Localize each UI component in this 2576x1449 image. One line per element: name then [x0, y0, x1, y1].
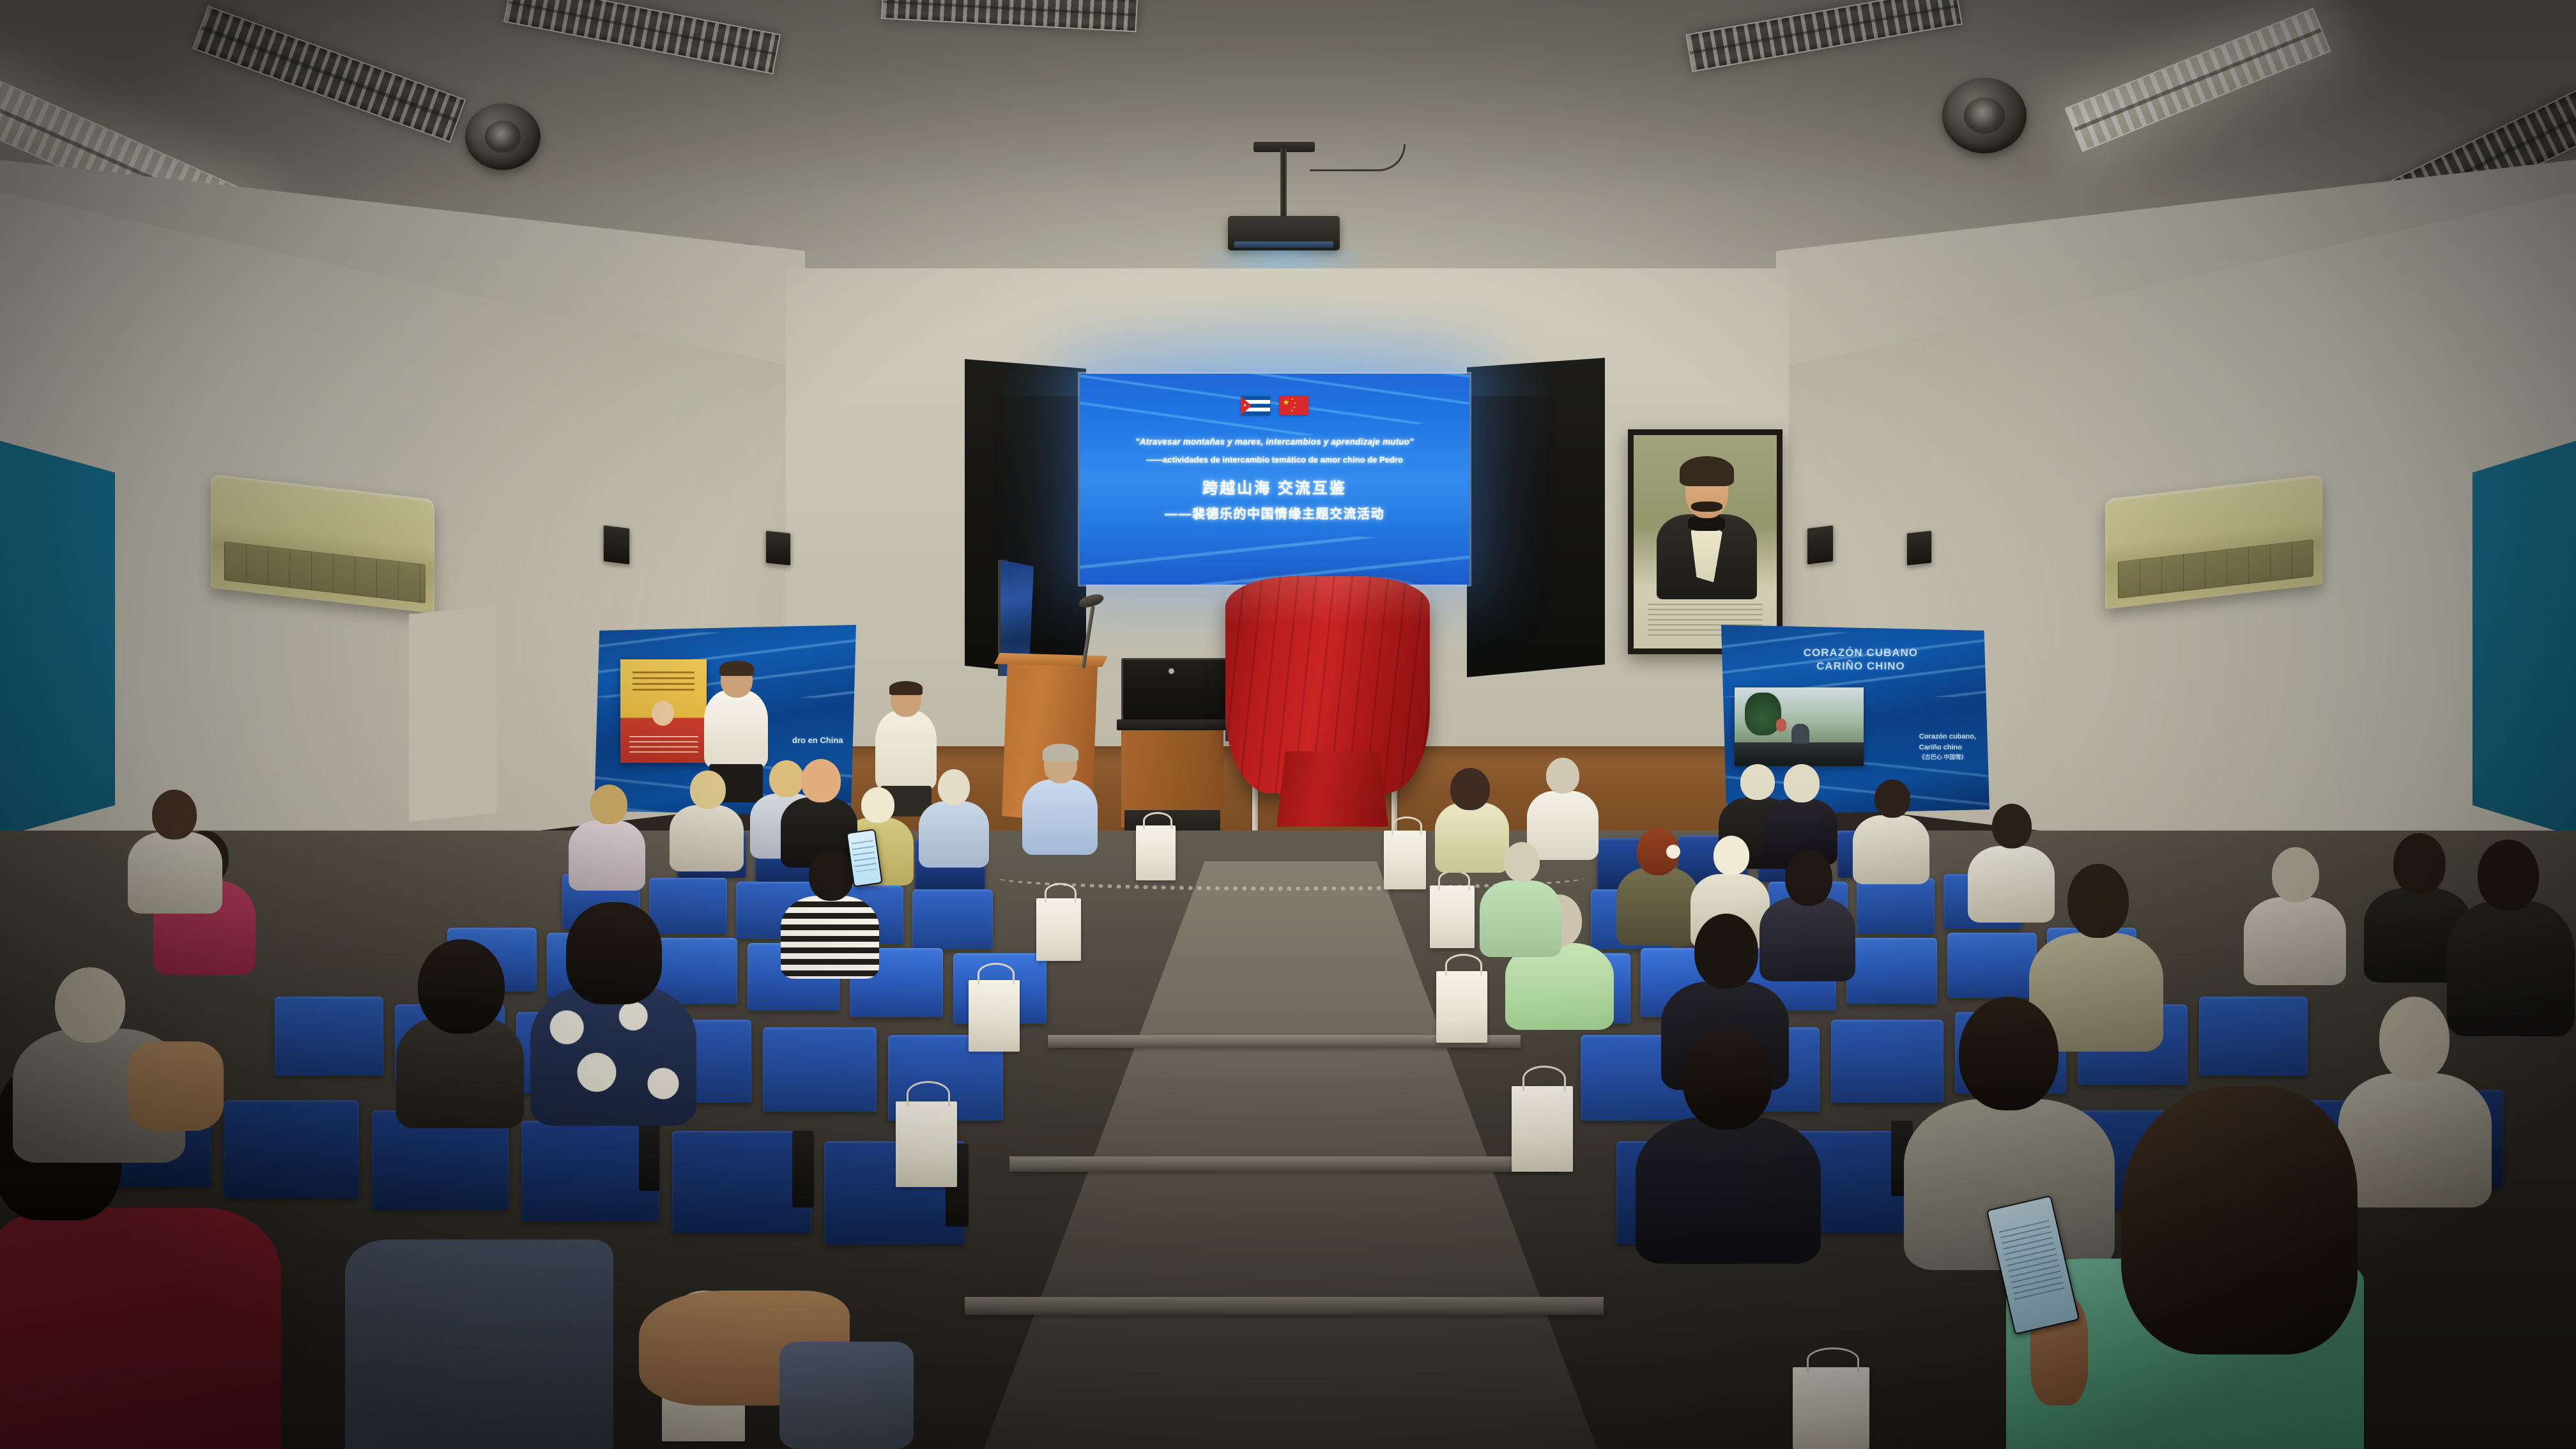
- right-banner-caption-line3: 《古巴心 中国情》: [1919, 753, 1976, 762]
- gift-tote-bag[interactable]: [1036, 898, 1081, 961]
- attendee-foreground-arm: [639, 1265, 914, 1449]
- ceiling-dome-speaker: [1942, 78, 2027, 153]
- auditorium-photo: "Atravesar montañas y mares, intercambio…: [0, 0, 2576, 1449]
- presentation-slide: "Atravesar montañas y mares, intercambio…: [1080, 374, 1469, 585]
- projector-cable: [1310, 144, 1406, 171]
- attendee-right-far-2: [1853, 779, 1929, 880]
- china-flag: [1279, 396, 1308, 415]
- projector-drop-pole: [1280, 148, 1287, 220]
- slide-spanish-subtitle: ——actividades de intercambio temático de…: [1095, 455, 1453, 465]
- phone-screen-small[interactable]: [847, 830, 881, 885]
- gift-tote-bag[interactable]: [1512, 1086, 1573, 1172]
- jose-marti-portrait: [1628, 429, 1782, 654]
- book-cover-image: [620, 659, 707, 763]
- auditorium-seat[interactable]: [275, 997, 383, 1076]
- banner-photo: [1735, 687, 1864, 765]
- person-with-phone-left: [128, 984, 256, 1131]
- auditorium-seat[interactable]: [672, 1131, 811, 1233]
- ceiling-dome-speaker: [465, 103, 540, 170]
- left-accent-wall-panel: [0, 441, 115, 837]
- attendee-right-far-1: [1763, 764, 1837, 861]
- attendee-left-orange-head: [781, 759, 857, 864]
- auditorium-seat[interactable]: [1857, 878, 1935, 934]
- attendee-left-far-3: [569, 785, 645, 887]
- slide-chinese-title: 跨越山海 交流互鉴: [1095, 475, 1453, 498]
- right-banner-caption: Corazón cubano, Cariño chino 《古巴心 中国情》: [1919, 732, 1976, 762]
- slide-chinese-subtitle: ——裴德乐的中国情缘主题交流活动: [1095, 503, 1453, 522]
- wall-speaker: [603, 525, 630, 565]
- auditorium-seat[interactable]: [1846, 938, 1937, 1004]
- attendee-left-far-2: [670, 770, 744, 868]
- right-banner-title-line1: CORAZÓN CUBANO: [1743, 646, 1979, 659]
- right-banner-caption-line2: Cariño chino: [1919, 742, 1976, 753]
- laptop-keyboard-base: [1117, 719, 1236, 730]
- stage-right-curtain: [1467, 358, 1605, 677]
- unveiling-base-drape: [1276, 751, 1388, 827]
- auditorium-seat[interactable]: [1947, 933, 2037, 998]
- aisle-step: [1009, 1156, 1559, 1172]
- gift-tote-bag[interactable]: [969, 980, 1020, 1052]
- right-banner-title-line2: CARIÑO CHINO: [1743, 659, 1979, 673]
- attendee-right-navy-jacket: [1636, 1029, 1821, 1259]
- gift-tote-bag[interactable]: [1436, 971, 1487, 1043]
- portrait-canvas: [1634, 435, 1777, 648]
- gift-tote-bag[interactable]: [896, 1101, 957, 1187]
- left-banner-text: dro en China: [792, 734, 843, 747]
- slide-spanish-title: "Atravesar montañas y mares, intercambio…: [1095, 437, 1453, 448]
- attendee-green-top: [1480, 842, 1561, 954]
- slide-text-block: "Atravesar montañas y mares, intercambio…: [1095, 437, 1453, 522]
- aisle-step: [965, 1297, 1604, 1315]
- gift-tote-bag[interactable]: [1384, 831, 1426, 889]
- slide-flags: [1241, 396, 1308, 415]
- auditorium-seat[interactable]: [2199, 997, 2308, 1076]
- seat-armrest: [792, 1131, 814, 1207]
- wall-speaker: [765, 530, 791, 566]
- attendee-left-polkadot-dress: [530, 902, 696, 1119]
- ceiling-projector: [1228, 216, 1340, 250]
- right-banner-caption-line1: Corazón cubano,: [1919, 732, 1976, 742]
- cuba-flag: [1241, 396, 1270, 415]
- gift-tote-bag[interactable]: [1430, 885, 1475, 948]
- gift-tote-bag[interactable]: [1793, 1367, 1869, 1449]
- gift-tote-bag[interactable]: [1136, 825, 1176, 880]
- attendee-front-blue-shirt: [1022, 746, 1098, 854]
- auditorium-seat[interactable]: [912, 889, 993, 949]
- right-accent-wall-panel: [2472, 441, 2576, 837]
- attendee-left-denim: [345, 1201, 613, 1449]
- attendee-right-pink-top: [2244, 847, 2346, 981]
- attendee-left-glasses: [128, 790, 222, 911]
- wall-speaker: [1807, 525, 1834, 565]
- right-banner-title: CORAZÓN CUBANO CARIÑO CHINO: [1743, 646, 1979, 673]
- auditorium-seat[interactable]: [763, 1027, 877, 1112]
- attendee-front-white-hair: [919, 769, 989, 865]
- presentation-laptop: [1121, 658, 1229, 722]
- side-door-frame: [409, 606, 497, 822]
- attendee-right-edge-2: [2447, 839, 2575, 1031]
- seat-armrest: [639, 1119, 659, 1191]
- attendee-left-dark-hair: [396, 939, 524, 1124]
- wall-speaker: [1906, 530, 1932, 566]
